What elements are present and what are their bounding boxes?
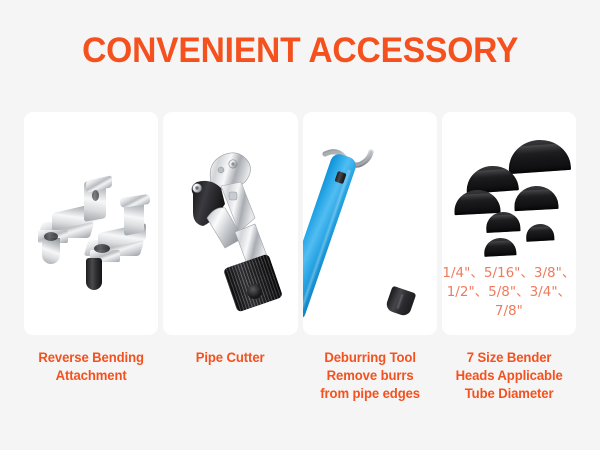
page-title: CONVENIENT ACCESSORY bbox=[82, 33, 518, 68]
caption-line: Deburring Tool bbox=[305, 349, 435, 367]
caption-line: Reverse Bending bbox=[26, 349, 156, 367]
bender-head-sizes: 1/4"、5/16"、3/8"、 1/2"、5/8"、3/4"、 7/8" bbox=[442, 264, 576, 321]
caption-line: Attachment bbox=[26, 367, 156, 385]
product-card-reverse-bending-attachment[interactable] bbox=[24, 112, 158, 335]
caption-line: 7 Size Bender bbox=[444, 349, 574, 367]
bender-head-1-2 bbox=[513, 185, 558, 211]
caption-line: Heads Applicable bbox=[444, 367, 574, 385]
bender-head-7-8 bbox=[507, 138, 571, 174]
pipe-cutter-svg bbox=[163, 112, 297, 335]
caption-line: Pipe Cutter bbox=[165, 349, 295, 367]
product-cards-row: 1/4"、5/16"、3/8"、 1/2"、5/8"、3/4"、 7/8" bbox=[24, 112, 576, 335]
product-card-bender-heads[interactable]: 1/4"、5/16"、3/8"、 1/2"、5/8"、3/4"、 7/8" bbox=[442, 112, 576, 335]
bender-head-5-16 bbox=[525, 223, 554, 241]
sizes-line-1: 1/4"、5/16"、3/8"、 bbox=[442, 264, 576, 283]
product-card-pipe-cutter[interactable] bbox=[163, 112, 297, 335]
bender-head-5-8 bbox=[453, 189, 500, 215]
caption-deburring-tool: Deburring Tool Remove burrs from pipe ed… bbox=[305, 349, 435, 403]
bender-heads-image: 1/4"、5/16"、3/8"、 1/2"、5/8"、3/4"、 7/8" bbox=[442, 112, 576, 335]
deburring-tool-image bbox=[303, 112, 437, 335]
caption-line: Tube Diameter bbox=[444, 385, 574, 403]
bender-head-1-4 bbox=[483, 237, 516, 257]
reverse-bending-attachment-image bbox=[24, 112, 158, 335]
pipe-cutter-image bbox=[163, 112, 297, 335]
header: CONVENIENT ACCESSORY bbox=[0, 0, 600, 100]
sizes-line-3: 7/8" bbox=[442, 302, 576, 321]
caption-line: Remove burrs bbox=[305, 367, 435, 385]
sizes-line-2: 1/2"、5/8"、3/4"、 bbox=[442, 283, 576, 302]
product-card-deburring-tool[interactable] bbox=[303, 112, 437, 335]
captions-row: Reverse Bending Attachment Pipe Cutter D… bbox=[24, 349, 576, 403]
caption-pipe-cutter: Pipe Cutter bbox=[165, 349, 295, 403]
caption-bender-heads: 7 Size Bender Heads Applicable Tube Diam… bbox=[444, 349, 574, 403]
caption-reverse-bending-attachment: Reverse Bending Attachment bbox=[26, 349, 156, 403]
caption-line: from pipe edges bbox=[305, 385, 435, 403]
bender-head-3-8 bbox=[485, 211, 520, 233]
